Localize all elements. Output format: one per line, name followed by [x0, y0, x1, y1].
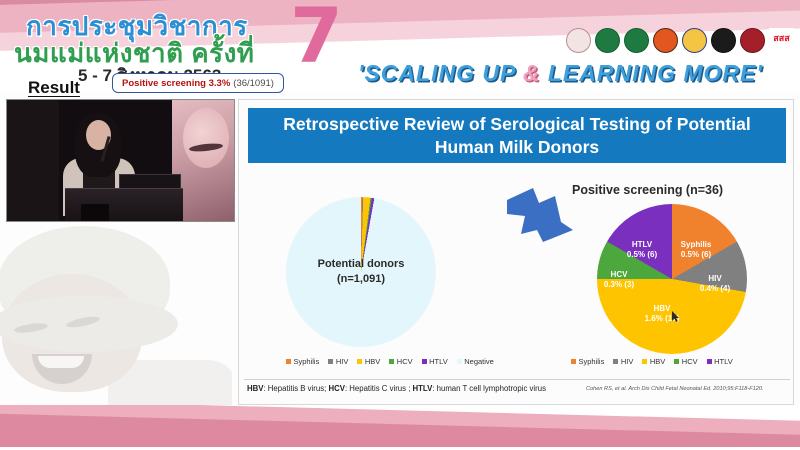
- legend-swatch-htlv: [422, 359, 427, 364]
- logo-thai-breastfeeding-foundation: [566, 28, 591, 53]
- baby-photo-watermark: [0, 222, 232, 412]
- legend-label-syphilis: Syphilis: [294, 357, 320, 366]
- source-citation: Cohen RS, et al. Arch Dis Child Fetal Ne…: [586, 386, 764, 392]
- legend-label-hcv: HCV: [397, 357, 413, 366]
- slice-hbv-value: 1.6% (17): [633, 314, 691, 324]
- conference-tagline: 'SCALING UP & LEARNING MORE': [358, 60, 763, 87]
- legend-swatch-htlv: [707, 359, 712, 364]
- legend-swatch-negative: [457, 359, 462, 364]
- slice-syphilis-value: 0.5% (6): [669, 250, 723, 260]
- slice-hiv-name: HIV: [689, 274, 741, 284]
- logo-department-of-health: [624, 28, 649, 53]
- legend-item-hbv: HBV: [357, 357, 380, 366]
- legend-label-hiv: HIV: [621, 357, 634, 366]
- mouse-cursor-icon: [672, 311, 680, 322]
- slide-stage: การประชุมวิชาการ นมแม่แห่งชาติ ครั้งที่ …: [0, 0, 800, 450]
- potential-donors-title: Potential donors: [286, 257, 436, 272]
- podium-panel: [81, 204, 109, 222]
- legend-swatch-hcv: [389, 359, 394, 364]
- result-heading: Result: [28, 78, 80, 98]
- legend-item-hcv: HCV: [674, 357, 697, 366]
- legend-label-hbv: HBV: [365, 357, 380, 366]
- pie-slice-label-hiv: HIV 0.4% (4): [689, 274, 741, 295]
- blue-arrow-icon: [503, 186, 577, 244]
- slice-syphilis-name: Syphilis: [669, 240, 723, 250]
- baby-teeth: [38, 356, 84, 368]
- footnote-hbv-value: : Hepatitis B virus;: [263, 384, 328, 393]
- logo-royal-emblem: [682, 28, 707, 53]
- legend-label-hcv: HCV: [682, 357, 698, 366]
- legend-swatch-hcv: [674, 359, 679, 364]
- legend-item-syphilis: Syphilis: [571, 357, 604, 366]
- logo-medical-council: [711, 28, 736, 53]
- logo-royal-college: [653, 28, 678, 53]
- tagline-part2: LEARNING MORE': [540, 60, 762, 86]
- footnote-divider: [244, 379, 790, 380]
- legend-swatch-hbv: [357, 359, 362, 364]
- callout-main-text: Positive screening 3.3%: [122, 78, 230, 89]
- pie-slice-label-hbv: HBV 1.6% (17): [633, 304, 691, 325]
- slice-hcv-name: HCV: [595, 270, 643, 280]
- footnote-htlv-value: : human T cell lymphotropic virus: [432, 384, 546, 393]
- slide-title: Retrospective Review of Serological Test…: [248, 108, 786, 163]
- logo-thai-health-sss: สสส: [769, 28, 794, 53]
- footnote-hcv-value: : Hepatitis C virus ;: [345, 384, 413, 393]
- pie-slice-label-hcv: HCV 0.3% (3): [595, 270, 643, 291]
- tagline-ampersand: &: [523, 60, 541, 86]
- positive-screening-pie-title: Positive screening (n=36): [572, 183, 723, 197]
- slice-hiv-value: 0.4% (4): [689, 284, 741, 294]
- legend-swatch-hbv: [642, 359, 647, 364]
- legend-item-hcv: HCV: [389, 357, 412, 366]
- legend-label-hbv: HBV: [650, 357, 665, 366]
- legend-label-negative: Negative: [464, 357, 494, 366]
- footnote-hcv-key: HCV: [328, 384, 344, 393]
- legend-item-htlv: HTLV: [707, 357, 733, 366]
- tagline-part1: 'SCALING UP: [358, 60, 523, 86]
- slice-hcv-value: 0.3% (3): [595, 280, 643, 290]
- virus-abbreviation-footnote: HBV: Hepatitis B virus; HCV: Hepatitis C…: [247, 384, 546, 393]
- positive-screening-legend: SyphilisHIVHBVHCVHTLV: [571, 357, 733, 366]
- pie-slice-label-syphilis: Syphilis 0.5% (6): [669, 240, 723, 261]
- legend-swatch-hiv: [328, 359, 333, 364]
- legend-swatch-syphilis: [571, 359, 576, 364]
- legend-item-hiv: HIV: [328, 357, 348, 366]
- legend-swatch-hiv: [613, 359, 618, 364]
- potential-donors-legend: SyphilisHIVHBVHCVHTLVNegative: [286, 357, 494, 366]
- video-background-face: [183, 108, 229, 168]
- potential-donors-pie-chart: Potential donors (n=1,091): [286, 197, 446, 357]
- logo-nursing-council: [740, 28, 765, 53]
- speaker-video-panel[interactable]: [6, 99, 235, 222]
- video-wall-left: [7, 100, 59, 221]
- legend-item-negative: Negative: [457, 357, 494, 366]
- legend-label-hiv: HIV: [336, 357, 349, 366]
- sponsor-logo-row: สสส: [566, 24, 798, 56]
- footnote-htlv-key: HTLV: [413, 384, 433, 393]
- pie-slice-label-htlv: HTLV 0.5% (6): [615, 240, 669, 261]
- legend-swatch-syphilis: [286, 359, 291, 364]
- callout-sub-text: (36/1091): [233, 78, 274, 89]
- legend-label-htlv: HTLV: [714, 357, 733, 366]
- legend-label-htlv: HTLV: [429, 357, 448, 366]
- logo-ministry-of-public-health: [595, 28, 620, 53]
- legend-item-hbv: HBV: [642, 357, 665, 366]
- legend-item-hiv: HIV: [613, 357, 633, 366]
- potential-donors-subtitle: (n=1,091): [286, 272, 436, 287]
- legend-label-syphilis: Syphilis: [579, 357, 605, 366]
- footer-band: [0, 405, 800, 450]
- positive-screening-callout: Positive screening 3.3% (36/1091): [112, 73, 284, 93]
- conference-edition-number: 7: [290, 0, 343, 74]
- positive-screening-pie-chart: Syphilis 0.5% (6) HIV 0.4% (4) HBV 1.6% …: [597, 204, 749, 356]
- legend-item-syphilis: Syphilis: [286, 357, 319, 366]
- slice-htlv-value: 0.5% (6): [615, 250, 669, 260]
- footnote-hbv-key: HBV: [247, 384, 263, 393]
- slice-hbv-name: HBV: [633, 304, 691, 314]
- slice-htlv-name: HTLV: [615, 240, 669, 250]
- potential-donors-pie-label: Potential donors (n=1,091): [286, 257, 436, 287]
- legend-item-htlv: HTLV: [422, 357, 448, 366]
